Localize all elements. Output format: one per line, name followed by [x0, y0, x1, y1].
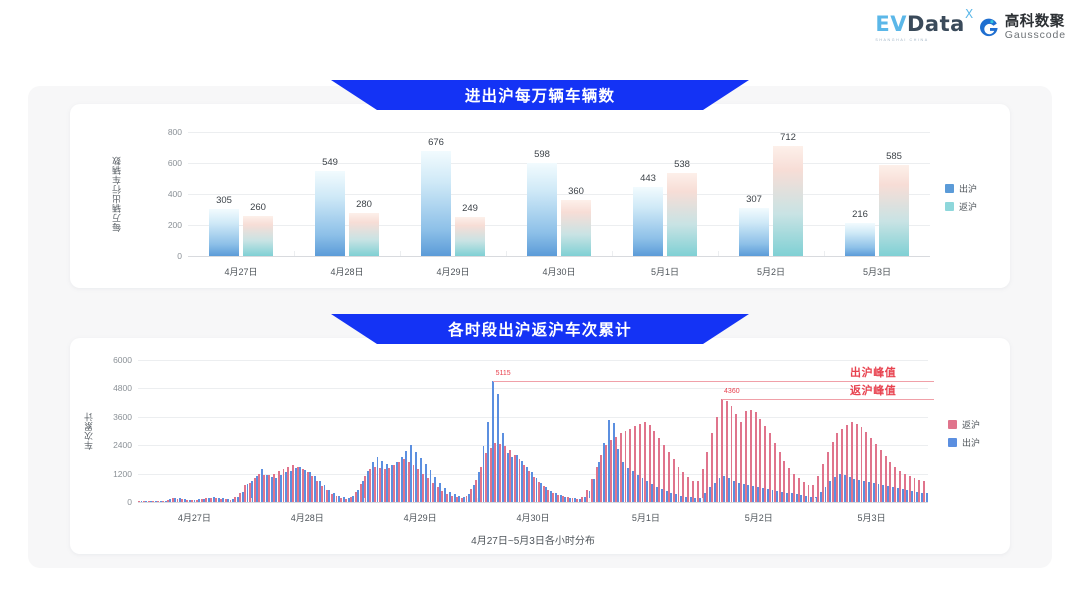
- chart1-category-divider: [506, 251, 507, 256]
- chart2-gridline: [138, 388, 928, 389]
- evdata-logo-prefix: EV: [875, 12, 907, 36]
- page-root: EVDataX SHANGHAI CHINA 高科数聚 Gausscode 每万…: [0, 0, 1080, 608]
- chart2-y-tick: 2400: [98, 440, 132, 450]
- chart1-x-tick: 5月1日: [651, 265, 679, 278]
- chart2-gridline: [138, 360, 928, 361]
- chart1-bar-ret: [773, 146, 803, 256]
- chart1-x-tick: 4月30日: [542, 265, 575, 278]
- chart2-legend-label: 出沪: [962, 436, 980, 449]
- chart-vehicles-per-10k: 每万辆出行车辆数02004006008003052604月27日5492804月…: [70, 104, 1010, 288]
- chart1-bar-value-label: 712: [780, 132, 796, 143]
- chart1-bar-ret: [561, 200, 591, 256]
- chart1-bar-out: [315, 171, 345, 256]
- chart1-bar-value-label: 216: [852, 209, 868, 220]
- chart1-bar-ret: [243, 216, 273, 256]
- chart1-category-divider: [400, 251, 401, 256]
- chart1-bar-out: [633, 187, 663, 256]
- chart2-y-tick: 0: [98, 497, 132, 507]
- chart2-legend-item[interactable]: 返沪: [948, 418, 980, 431]
- gausscode-wordmark: 高科数聚 Gausscode: [1005, 15, 1066, 41]
- chart2-legend-item[interactable]: 出沪: [948, 436, 980, 449]
- chart1-bar-ret: [455, 217, 485, 256]
- chart1-legend-item[interactable]: 出沪: [945, 182, 977, 195]
- chart1-bar-out: [845, 223, 875, 256]
- chart1-bar-value-label: 676: [428, 137, 444, 148]
- chart2-legend-swatch: [948, 420, 957, 429]
- chart2-y-tick: 4800: [98, 383, 132, 393]
- chart1-bar-value-label: 538: [674, 159, 690, 170]
- chart1-bar-value-label: 598: [534, 149, 550, 160]
- chart-title-banner-vehicles: 进出沪每万辆车辆数: [331, 80, 749, 110]
- chart2-hour-bar-out: [926, 493, 928, 502]
- evdata-logo: EVDataX SHANGHAI CHINA: [875, 14, 964, 42]
- chart1-bar-value-label: 249: [462, 203, 478, 214]
- chart1-bar-ret: [879, 165, 909, 256]
- chart1-legend-label: 出沪: [959, 182, 977, 195]
- chart2-x-tick: 4月29日: [404, 511, 437, 524]
- gausscode-mark-icon: [978, 17, 1000, 39]
- chart1-y-tick: 0: [152, 251, 182, 261]
- chart1-x-tick: 4月28日: [330, 265, 363, 278]
- chart1-bar-out: [527, 163, 557, 256]
- chart1-bar-value-label: 307: [746, 194, 762, 205]
- chart2-y-axis-label: 车次累计: [82, 380, 95, 482]
- evdata-logo-suffix: Data: [907, 12, 965, 36]
- chart1-y-axis-label: 每万辆出行车辆数: [110, 140, 123, 248]
- gausscode-name-en: Gausscode: [1005, 30, 1066, 41]
- chart-title-banner-hourly: 各时段出沪返沪车次累计: [331, 314, 749, 344]
- chart2-peak-value-ret: 4360: [724, 388, 740, 395]
- chart2-y-tick: 6000: [98, 355, 132, 365]
- gausscode-logo: 高科数聚 Gausscode: [978, 15, 1066, 41]
- chart1-gridline: [188, 256, 930, 257]
- chart2-day-divider: [477, 498, 478, 502]
- chart1-legend-swatch: [945, 202, 954, 211]
- chart2-gridline: [138, 445, 928, 446]
- chart1-bar-value-label: 280: [356, 199, 372, 210]
- chart-card-vehicles: 每万辆出行车辆数02004006008003052604月27日5492804月…: [70, 104, 1010, 288]
- chart1-gridline: [188, 225, 930, 226]
- chart1-legend-label: 返沪: [959, 200, 977, 213]
- chart1-bar-ret: [667, 173, 697, 256]
- chart1-legend-swatch: [945, 184, 954, 193]
- chart2-peak-value-out: 5115: [496, 370, 511, 377]
- evdata-wordmark: EVDataX: [875, 14, 964, 35]
- chart1-legend-item[interactable]: 返沪: [945, 200, 977, 213]
- chart1-bar-value-label: 260: [250, 202, 266, 213]
- chart2-peak-label-ret: 返沪峰值: [850, 382, 896, 398]
- chart2-day-divider: [589, 498, 590, 502]
- chart1-category-divider: [718, 251, 719, 256]
- chart1-gridline: [188, 163, 930, 164]
- chart1-bar-out: [739, 208, 769, 256]
- chart2-gridline: [138, 502, 928, 503]
- chart1-x-tick: 4月27日: [224, 265, 257, 278]
- chart2-x-tick: 5月1日: [632, 511, 660, 524]
- evdata-logo-tagline: SHANGHAI CHINA: [875, 38, 928, 42]
- chart1-gridline: [188, 132, 930, 133]
- chart1-x-tick: 4月29日: [436, 265, 469, 278]
- chart2-x-tick: 5月3日: [858, 511, 886, 524]
- chart2-legend: 返沪出沪: [948, 418, 980, 454]
- chart2-x-tick: 4月28日: [291, 511, 324, 524]
- chart1-y-tick: 400: [152, 189, 182, 199]
- chart1-y-tick: 200: [152, 220, 182, 230]
- chart2-day-divider: [702, 498, 703, 502]
- chart1-x-tick: 5月3日: [863, 265, 891, 278]
- evdata-logo-superscript: X: [965, 8, 974, 20]
- chart2-peak-label-out: 出沪峰值: [850, 364, 896, 380]
- logo-group: EVDataX SHANGHAI CHINA 高科数聚 Gausscode: [875, 14, 1066, 42]
- chart2-gridline: [138, 474, 928, 475]
- chart2-y-tick: 3600: [98, 412, 132, 422]
- chart1-category-divider: [824, 251, 825, 256]
- chart1-bar-out: [209, 209, 239, 256]
- chart2-day-divider: [251, 498, 252, 502]
- chart1-bar-ret: [349, 213, 379, 256]
- chart2-day-divider: [364, 498, 365, 502]
- chart2-y-tick: 1200: [98, 469, 132, 479]
- chart2-peak-line-ret: [722, 399, 934, 400]
- chart1-bar-out: [421, 151, 451, 256]
- chart1-category-divider: [612, 251, 613, 256]
- chart1-legend: 出沪返沪: [945, 182, 977, 218]
- gausscode-name-cn: 高科数聚: [1005, 15, 1066, 30]
- chart2-gridline: [138, 417, 928, 418]
- chart2-legend-swatch: [948, 438, 957, 447]
- chart2-x-axis-caption: 4月27日~5月3日各小时分布: [471, 532, 595, 547]
- page-header: EVDataX SHANGHAI CHINA 高科数聚 Gausscode: [0, 0, 1080, 60]
- chart1-bar-value-label: 585: [886, 151, 902, 162]
- chart1-y-tick: 800: [152, 127, 182, 137]
- chart-card-hourly: 车次累计0120024003600480060004月27日4月28日4月29日…: [70, 338, 1010, 554]
- chart2-x-tick: 4月27日: [178, 511, 211, 524]
- chart1-bar-value-label: 549: [322, 157, 338, 168]
- chart2-legend-label: 返沪: [962, 418, 980, 431]
- chart2-x-tick: 5月2日: [745, 511, 773, 524]
- chart1-bar-value-label: 305: [216, 195, 232, 206]
- chart1-x-tick: 5月2日: [757, 265, 785, 278]
- chart1-bar-value-label: 360: [568, 186, 584, 197]
- chart2-x-tick: 4月30日: [516, 511, 549, 524]
- chart1-gridline: [188, 194, 930, 195]
- chart1-category-divider: [294, 251, 295, 256]
- chart1-y-tick: 600: [152, 158, 182, 168]
- chart2-day-divider: [815, 498, 816, 502]
- chart-hourly-cumulative: 车次累计0120024003600480060004月27日4月28日4月29日…: [70, 338, 1010, 554]
- chart1-bar-value-label: 443: [640, 173, 656, 184]
